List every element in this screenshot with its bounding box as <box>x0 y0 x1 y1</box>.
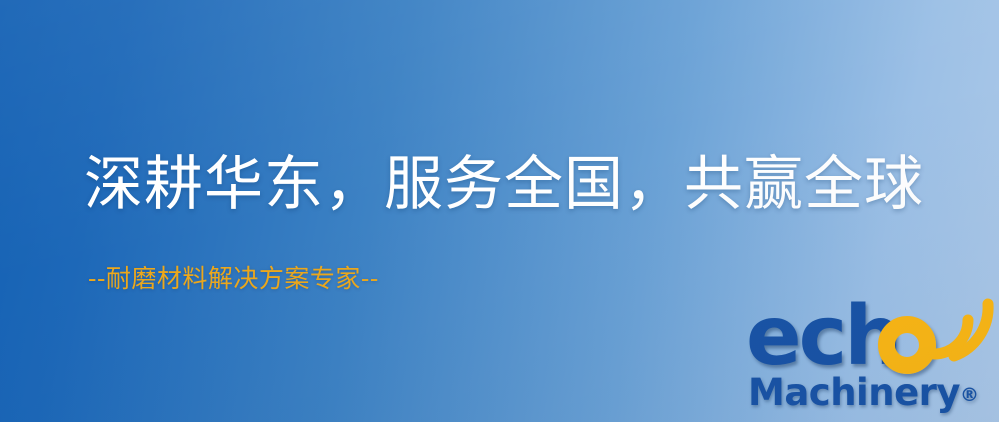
company-logo[interactable]: ech Machinery® <box>742 302 999 422</box>
logo-wordmark: ech <box>742 302 999 376</box>
echo-waves-icon <box>924 294 998 364</box>
logo-tagline: Machinery® <box>748 374 979 411</box>
banner-subtitle: --耐磨材料解决方案专家-- <box>88 264 379 294</box>
logo-tagline-text: Machinery <box>748 371 960 414</box>
hero-banner: 深耕华东，服务全国，共赢全球 --耐磨材料解决方案专家-- ech Machin… <box>0 0 999 422</box>
banner-headline: 深耕华东，服务全国，共赢全球 <box>84 152 924 217</box>
logo-echo-text: ech <box>746 296 900 378</box>
registered-trademark-icon: ® <box>960 384 979 406</box>
